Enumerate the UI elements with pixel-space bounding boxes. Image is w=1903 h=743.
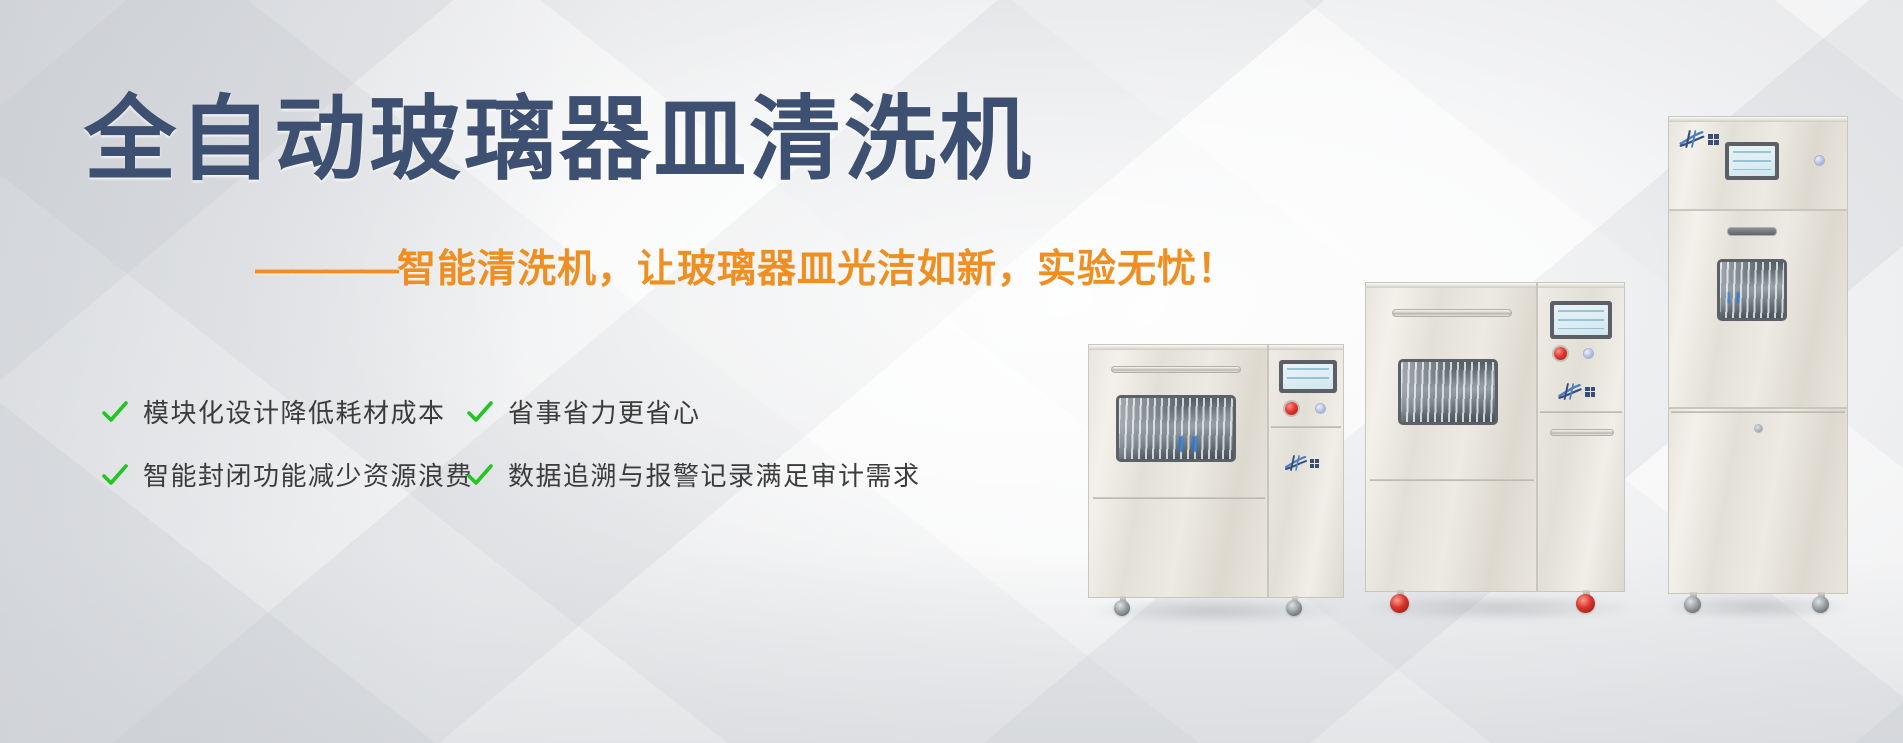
viewing-window — [1398, 359, 1498, 425]
control-column — [1268, 344, 1344, 598]
feature-item: 智能封闭功能减少资源浪费 — [100, 456, 465, 493]
panel-seam — [1271, 426, 1341, 428]
wash-chamber-body — [1668, 210, 1848, 408]
panel-seam — [1671, 411, 1845, 413]
emergency-stop-button[interactable] — [1285, 402, 1298, 415]
power-button[interactable] — [1316, 404, 1325, 413]
control-column — [1537, 282, 1625, 592]
door-handle — [1111, 366, 1241, 373]
glass-reflection — [1401, 362, 1495, 422]
feature-item: 数据追溯与报警记录满足审计需求 — [465, 456, 965, 493]
caster-wheel — [1390, 594, 1409, 613]
door-handle — [1392, 309, 1512, 317]
feature-list: 模块化设计降低耗材成本 省事省力更省心 智能封闭功能减少资源浪费 — [100, 380, 1000, 506]
machine-undercounter-glassware-washer — [1080, 330, 1350, 620]
top-edge — [1669, 117, 1847, 122]
logo-mark-icon — [1679, 130, 1705, 148]
check-icon — [100, 397, 130, 427]
logo-mark-icon — [1558, 383, 1582, 400]
glass-reflection — [1119, 398, 1233, 459]
logo-squares-icon — [1585, 387, 1595, 397]
top-edge — [1269, 345, 1343, 350]
check-icon — [100, 460, 130, 490]
brand-logo — [1285, 455, 1319, 471]
viewing-window — [1116, 395, 1236, 462]
feature-item: 省事省力更省心 — [465, 393, 965, 430]
lower-storage-section — [1668, 408, 1848, 594]
feature-row: 模块化设计降低耗材成本 省事省力更省心 — [100, 380, 1000, 443]
product-banner: 全自动玻璃器皿清洗机 ————智能清洗机，让玻璃器皿光洁如新，实验无忧！ 模块化… — [0, 0, 1903, 743]
brand-logo — [1558, 383, 1595, 400]
caster-wheel — [1576, 594, 1595, 613]
power-button[interactable] — [1584, 349, 1593, 358]
glass-reflection — [1720, 262, 1784, 318]
hmi-screen[interactable] — [1283, 364, 1333, 389]
touchscreen-hmi[interactable] — [1725, 142, 1779, 180]
text-content: 全自动玻璃器皿清洗机 ————智能清洗机，让玻璃器皿光洁如新，实验无忧！ 模块化… — [0, 0, 1100, 743]
panel-seam — [1093, 497, 1265, 499]
logo-squares-icon — [1310, 459, 1319, 468]
feature-label: 智能封闭功能减少资源浪费 — [143, 456, 473, 493]
wash-chamber-body — [1088, 344, 1268, 598]
viewing-window — [1717, 259, 1787, 321]
subtitle-dash: ———— — [255, 248, 395, 291]
feature-row: 智能封闭功能减少资源浪费 数据追溯与报警记录满足审计需求 — [100, 443, 1000, 506]
hmi-content-lines — [1733, 151, 1772, 170]
upper-control-section — [1668, 116, 1848, 210]
lower-door-handle — [1550, 429, 1614, 436]
check-icon — [465, 397, 495, 427]
caster-wheel — [1812, 596, 1829, 613]
page-title: 全自动玻璃器皿清洗机 — [84, 92, 1034, 190]
feature-label: 数据追溯与报警记录满足审计需求 — [508, 456, 921, 493]
emergency-stop-button[interactable] — [1554, 347, 1567, 360]
caster-wheel — [1684, 596, 1701, 613]
logo-squares-icon — [1708, 134, 1719, 145]
panel-seam — [1540, 411, 1622, 413]
latch-button[interactable] — [1755, 425, 1762, 432]
door-handle — [1727, 227, 1777, 236]
hmi-screen[interactable] — [1729, 146, 1775, 176]
hmi-content-lines — [1287, 368, 1329, 384]
power-button[interactable] — [1815, 156, 1824, 165]
touchscreen-hmi[interactable] — [1550, 301, 1612, 339]
feature-label: 省事省力更省心 — [508, 393, 701, 430]
caster-wheel — [1114, 600, 1130, 616]
machine-tall-column-glassware-washer — [1660, 108, 1860, 628]
feature-item: 模块化设计降低耗材成本 — [100, 393, 465, 430]
feature-label: 模块化设计降低耗材成本 — [143, 393, 446, 430]
panel-seam — [1370, 479, 1534, 481]
product-images — [1080, 0, 1903, 743]
check-icon — [465, 460, 495, 490]
top-edge — [1089, 345, 1267, 350]
hmi-screen[interactable] — [1554, 305, 1608, 335]
brand-logo — [1679, 130, 1719, 148]
machine-freestanding-glassware-washer — [1355, 272, 1645, 622]
top-edge — [1538, 283, 1624, 288]
touchscreen-hmi[interactable] — [1279, 360, 1337, 393]
top-edge — [1366, 283, 1536, 288]
logo-mark-icon — [1285, 455, 1307, 471]
caster-wheel — [1286, 600, 1302, 616]
wash-chamber-body — [1365, 282, 1537, 592]
hmi-content-lines — [1558, 310, 1603, 329]
